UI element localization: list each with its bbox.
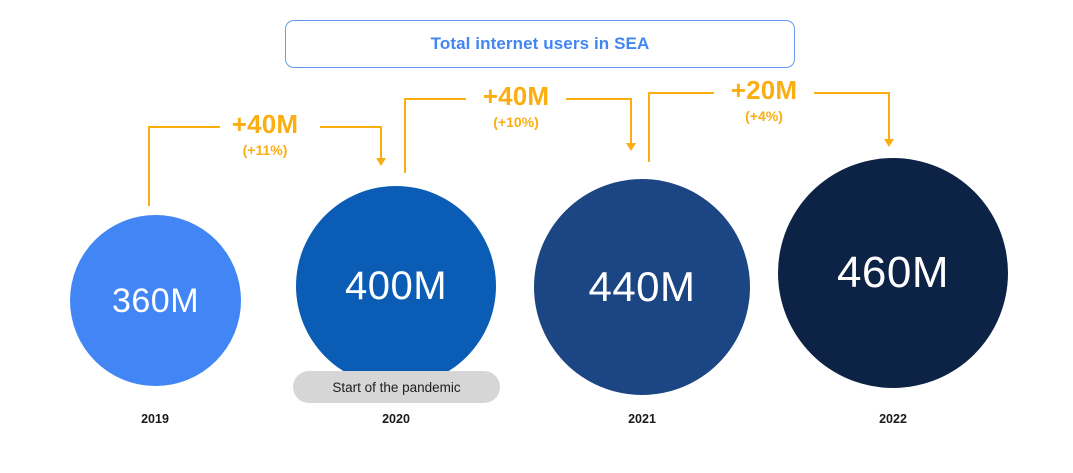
annotation-2-left-rail — [404, 98, 466, 100]
annotation-3-arrowhead-icon — [884, 139, 894, 147]
annotation-1-left-stem — [148, 126, 150, 206]
annotation-1-right-stem — [380, 126, 382, 161]
bubble-value-2022: 460M — [837, 251, 949, 295]
annotation-3-right-rail — [814, 92, 890, 94]
annotation-2-right-stem — [630, 98, 632, 146]
bubble-2021[interactable]: 440M — [534, 179, 750, 395]
pandemic-callout-label: Start of the pandemic — [332, 380, 460, 395]
year-label-2019: 2019 — [95, 412, 215, 426]
bubble-value-2019: 360M — [112, 284, 199, 318]
annotation-2-delta: +40M — [461, 83, 571, 109]
year-label-2021: 2021 — [582, 412, 702, 426]
annotation-1-delta: +40M — [210, 111, 320, 137]
chart-title: Total internet users in SEA — [431, 34, 650, 54]
annotation-1-arrowhead-icon — [376, 158, 386, 166]
bubble-2019[interactable]: 360M — [70, 215, 241, 386]
bubble-value-2020: 400M — [345, 266, 447, 306]
chart-canvas: Total internet users in SEA +40M (+11%) … — [0, 0, 1073, 473]
annotation-3-percent: (+4%) — [709, 109, 819, 123]
annotation-1-labels: +40M (+11%) — [210, 111, 320, 157]
annotation-2-percent: (+10%) — [461, 115, 571, 129]
annotation-2-arrowhead-icon — [626, 143, 636, 151]
annotation-2-left-stem — [404, 98, 406, 173]
chart-title-box: Total internet users in SEA — [285, 20, 795, 68]
year-label-2022: 2022 — [833, 412, 953, 426]
annotation-3-left-rail — [648, 92, 714, 94]
annotation-3-right-stem — [888, 92, 890, 142]
annotation-2-labels: +40M (+10%) — [461, 83, 571, 129]
annotation-3-left-stem — [648, 92, 650, 162]
annotation-1-percent: (+11%) — [210, 143, 320, 157]
bubble-2022[interactable]: 460M — [778, 158, 1008, 388]
year-label-2020: 2020 — [336, 412, 456, 426]
annotation-1-right-rail — [320, 126, 382, 128]
annotation-3-labels: +20M (+4%) — [709, 77, 819, 123]
annotation-3-delta: +20M — [709, 77, 819, 103]
pandemic-callout: Start of the pandemic — [293, 371, 500, 403]
annotation-2-right-rail — [566, 98, 632, 100]
bubble-2020[interactable]: 400M — [296, 186, 496, 386]
bubble-value-2021: 440M — [588, 266, 695, 308]
